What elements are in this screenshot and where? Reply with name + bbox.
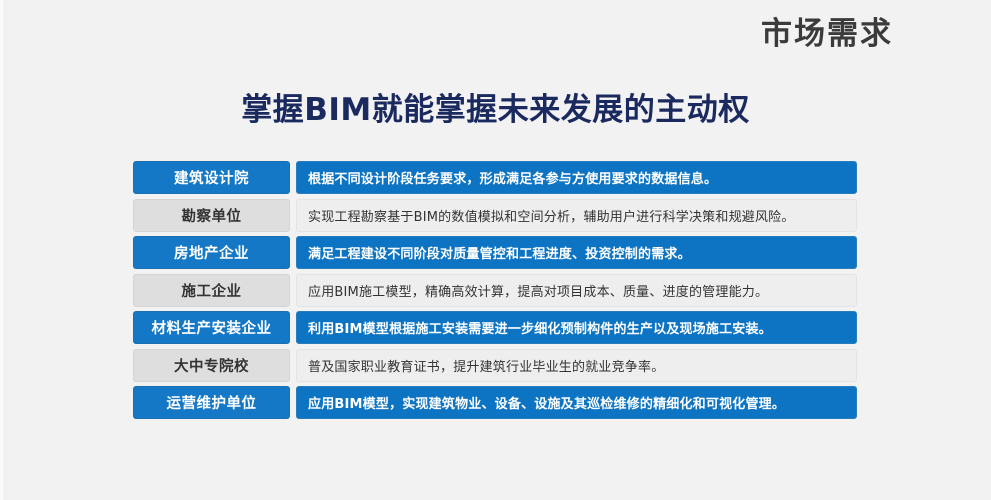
stakeholder-description: 应用BIM施工模型，精确高效计算，提高对项目成本、质量、进度的管理能力。 [296,274,857,307]
stakeholder-description: 根据不同设计阶段任务要求，形成满足各参与方使用要求的数据信息。 [296,161,857,194]
stakeholder-matrix: 建筑设计院根据不同设计阶段任务要求，形成满足各参与方使用要求的数据信息。勘察单位… [133,161,857,419]
stakeholder-description: 应用BIM模型，实现建筑物业、设备、设施及其巡检维修的精细化和可视化管理。 [296,386,857,419]
stakeholder-label: 房地产企业 [133,236,290,269]
stakeholder-label: 建筑设计院 [133,161,290,194]
table-row: 运营维护单位应用BIM模型，实现建筑物业、设备、设施及其巡检维修的精细化和可视化… [133,386,857,419]
table-row: 材料生产安装企业利用BIM模型根据施工安装需要进一步细化预制构件的生产以及现场施… [133,311,857,344]
stakeholder-label: 勘察单位 [133,199,290,232]
stakeholder-label: 施工企业 [133,274,290,307]
table-row: 勘察单位实现工程勘察基于BIM的数值模拟和空间分析，辅助用户进行科学决策和规避风… [133,199,857,232]
stakeholder-description: 普及国家职业教育证书，提升建筑行业毕业生的就业竞争率。 [296,349,857,382]
section-title: 市场需求 [761,14,893,54]
table-row: 施工企业应用BIM施工模型，精确高效计算，提高对项目成本、质量、进度的管理能力。 [133,274,857,307]
table-row: 房地产企业满足工程建设不同阶段对质量管控和工程进度、投资控制的需求。 [133,236,857,269]
table-row: 大中专院校普及国家职业教育证书，提升建筑行业毕业生的就业竞争率。 [133,349,857,382]
page-title: 掌握BIM就能掌握未来发展的主动权 [0,84,991,129]
stakeholder-label: 大中专院校 [133,349,290,382]
slide-root: 市场需求 掌握BIM就能掌握未来发展的主动权 建筑设计院根据不同设计阶段任务要求… [0,0,991,500]
stakeholder-description: 满足工程建设不同阶段对质量管控和工程进度、投资控制的需求。 [296,236,857,269]
left-edge-strip [0,0,3,500]
stakeholder-description: 实现工程勘察基于BIM的数值模拟和空间分析，辅助用户进行科学决策和规避风险。 [296,199,857,232]
stakeholder-description: 利用BIM模型根据施工安装需要进一步细化预制构件的生产以及现场施工安装。 [296,311,857,344]
stakeholder-label: 材料生产安装企业 [133,311,290,344]
table-row: 建筑设计院根据不同设计阶段任务要求，形成满足各参与方使用要求的数据信息。 [133,161,857,194]
stakeholder-label: 运营维护单位 [133,386,290,419]
